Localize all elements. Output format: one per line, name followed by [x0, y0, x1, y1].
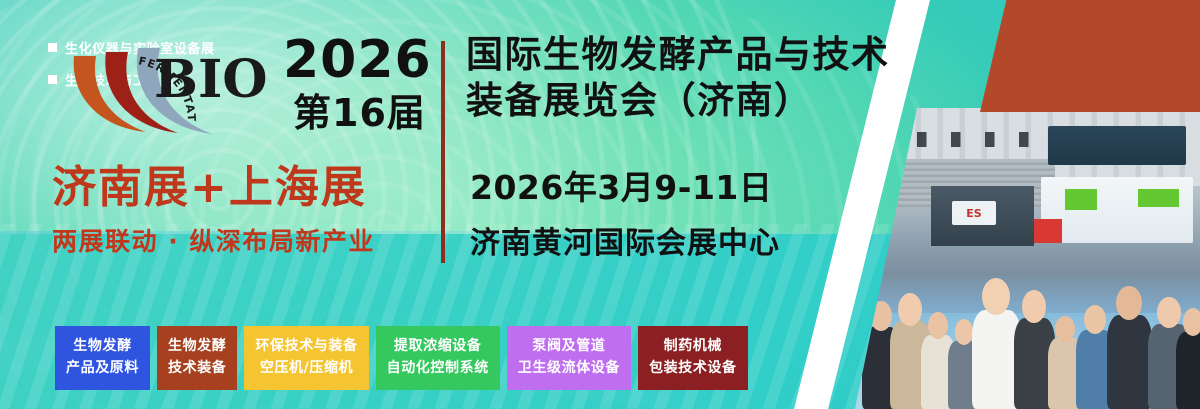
category-tag-list: 生物发酵 产品及原料 生物发酵 技术装备 环保技术与装备 空压机/压缩机 提取浓…	[55, 326, 748, 390]
square-bullet-icon	[48, 43, 57, 52]
category-tag-line-1: 环保技术与装备	[255, 336, 357, 358]
schedule-block: 2026年3月9-11日 济南黄河国际会展中心	[470, 168, 870, 262]
event-title-line-1: 国际生物发酵产品与技术	[466, 32, 936, 78]
category-tag[interactable]: 生物发酵 技术装备	[157, 326, 237, 390]
category-tag-line-2: 空压机/压缩机	[260, 358, 353, 380]
co-exhibition-wedge	[980, 0, 1200, 112]
event-venue: 济南黄河国际会展中心	[470, 218, 870, 262]
photo-person-head	[928, 312, 948, 339]
event-banner: ES 生化仪器与实验室设备展 生物技术与工程展	[0, 0, 1200, 409]
edition-block: 2026 第16届	[283, 34, 433, 135]
square-bullet-icon	[48, 75, 57, 84]
category-tag-line-1: 制药机械	[664, 336, 722, 358]
category-tag-line-1: 生物发酵	[168, 336, 226, 358]
photo-person-head	[898, 293, 922, 325]
event-date: 2026年3月9-11日	[470, 168, 870, 208]
event-title-line-2: 装备展览会（济南）	[466, 78, 936, 124]
category-tag[interactable]: 制药机械 包装技术设备	[638, 326, 748, 390]
category-tag-line-2: 卫生级流体设备	[518, 358, 620, 380]
category-tag-line-2: 产品及原料	[66, 358, 139, 380]
category-tag-line-2: 自动化控制系统	[387, 358, 489, 380]
category-tag-line-1: 提取浓缩设备	[394, 336, 482, 358]
category-tag[interactable]: 泵阀及管道 卫生级流体设备	[507, 326, 631, 390]
event-title: 国际生物发酵产品与技术 装备展览会（济南）	[466, 32, 936, 124]
photo-person-head	[955, 319, 973, 344]
category-tag[interactable]: 提取浓缩设备 自动化控制系统	[376, 326, 500, 390]
slogan-sub: 两展联动 · 纵深布局新产业	[52, 222, 452, 258]
category-tag[interactable]: 环保技术与装备 空压机/压缩机	[244, 326, 368, 390]
slogan-main: 济南展+上海展	[52, 163, 452, 214]
logo-wordmark: BIO	[154, 54, 268, 106]
category-tag-line-2: 包装技术设备	[649, 358, 737, 380]
category-tag[interactable]: 生物发酵 产品及原料	[55, 326, 150, 390]
category-tag-line-1: 生物发酵	[73, 336, 131, 358]
edition-year: 2026	[283, 34, 433, 87]
category-tag-line-1: 泵阀及管道	[532, 336, 605, 358]
category-tag-line-2: 技术装备	[168, 358, 226, 380]
co-exhibition-panel	[980, 0, 1200, 409]
bio-fermentation-logo: FERMENTATION BIO	[62, 28, 282, 138]
slogan-block: 济南展+上海展 两展联动 · 纵深布局新产业	[52, 163, 452, 258]
edition-ordinal: 第16届	[293, 93, 433, 135]
